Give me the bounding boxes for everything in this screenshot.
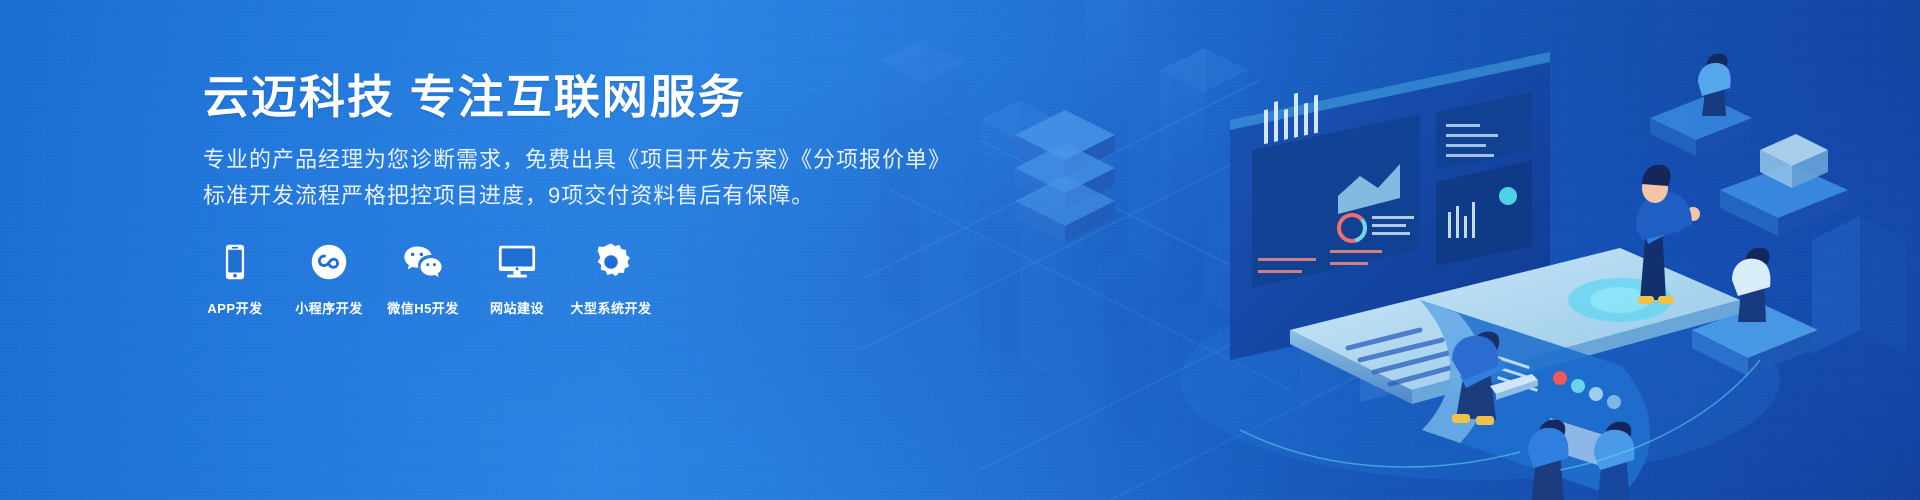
service-item-large-system[interactable]: 大型系统开发 [579, 240, 643, 317]
hero-banner: 云迈科技 专注互联网服务 专业的产品经理为您诊断需求，免费出具《项目开发方案》《… [0, 0, 1920, 500]
service-label: APP开发 [207, 298, 262, 317]
server-stack [1015, 110, 1115, 243]
hero-subtitle: 专业的产品经理为您诊断需求，免费出具《项目开发方案》《分项报价单》 标准开发流程… [203, 142, 903, 213]
subtitle-line-2: 标准开发流程严格把控项目进度，9项交付资料售后有保障。 [203, 178, 903, 214]
wechat-icon [401, 240, 445, 284]
mini-program-icon [307, 240, 351, 284]
page-title: 云迈科技 专注互联网服务 [203, 70, 903, 124]
service-item-app[interactable]: APP开发 [203, 240, 267, 317]
service-item-wechat-h5[interactable]: 微信H5开发 [391, 240, 455, 317]
hero-copy: 云迈科技 专注互联网服务 专业的产品经理为您诊断需求，免费出具《项目开发方案》《… [203, 70, 903, 317]
mobile-phone-icon [213, 240, 257, 284]
service-list: APP开发 小程序开发 [203, 240, 903, 317]
service-label: 微信H5开发 [387, 298, 459, 317]
subtitle-line-1: 专业的产品经理为您诊断需求，免费出具《项目开发方案》《分项报价单》 [203, 142, 903, 178]
desktop-monitor-icon [495, 240, 539, 284]
service-label: 大型系统开发 [571, 298, 652, 317]
service-item-mini-program[interactable]: 小程序开发 [297, 240, 361, 317]
isometric-illustration [860, 0, 1920, 500]
service-item-website[interactable]: 网站建设 [485, 240, 549, 317]
service-label: 网站建设 [490, 298, 544, 317]
service-label: 小程序开发 [295, 298, 363, 317]
gear-icon [589, 240, 633, 284]
